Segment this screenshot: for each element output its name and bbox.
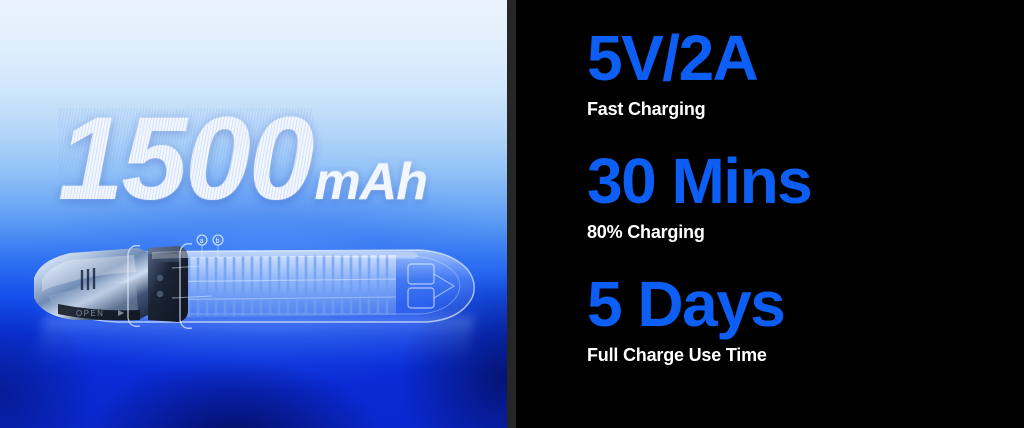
product-spec-banner: 1500 mAh [0,0,1024,428]
callout-b-label: b [216,238,220,245]
capacity-number: 1500 [58,108,313,212]
spec-label-charge-time: 80% Charging [587,222,1024,244]
spec-label-use-time: Full Charge Use Time [587,345,1024,367]
charging-specs-panel: 5V/2A Fast Charging 30 Mins 80% Charging… [516,0,1024,428]
spec-value-charge-time: 30 Mins [587,149,1024,214]
spec-value-use-time: 5 Days [587,272,1024,337]
device-open-label: OPEN [76,309,104,318]
spec-list: 5V/2A Fast Charging 30 Mins 80% Charging… [587,26,1024,367]
capacity-unit: mAh [315,156,428,208]
spec-label-fast-charging: Fast Charging [587,99,1024,121]
callout-a-label: a [200,238,204,245]
spec-item-fast-charging: 5V/2A Fast Charging [587,26,1024,121]
spec-item-use-time: 5 Days Full Charge Use Time [587,272,1024,367]
spec-value-fast-charging: 5V/2A [587,26,1024,91]
background-vignette [0,0,507,428]
battery-hero-panel: 1500 mAh [0,0,507,428]
device-pod-body: OPEN [34,248,150,320]
panel-divider [507,0,516,428]
spec-item-charge-time: 30 Mins 80% Charging [587,149,1024,244]
pod-battery-illustration: OPEN a [22,222,484,340]
capacity-headline: 1500 mAh [58,108,427,212]
